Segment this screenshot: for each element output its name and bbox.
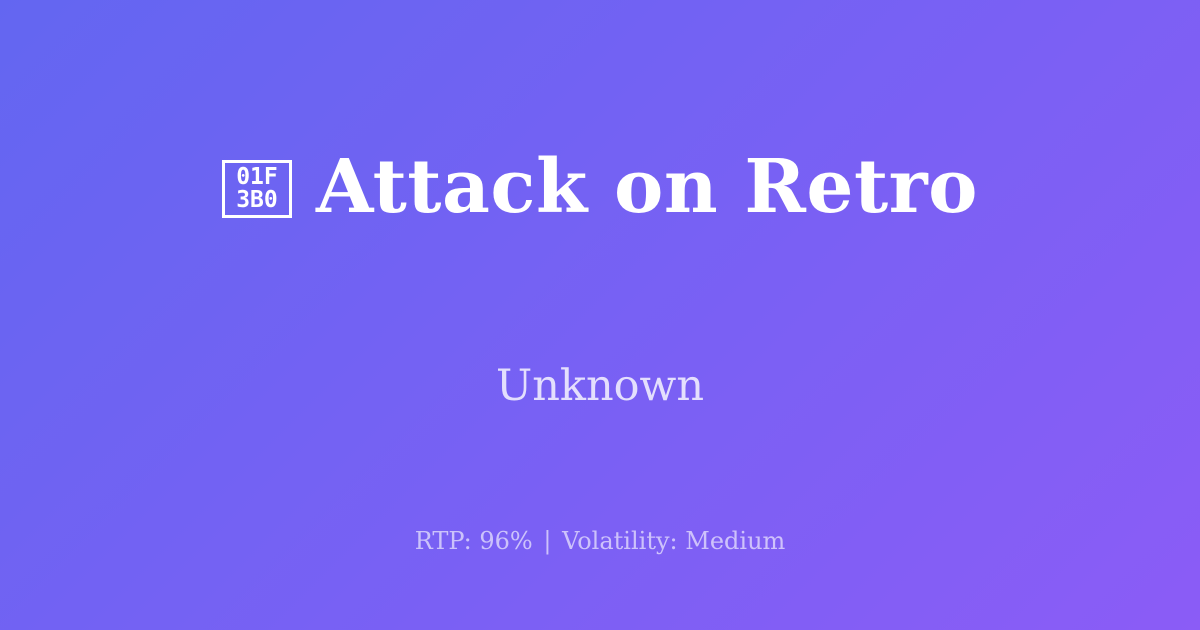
game-stats-line: RTP: 96% | Volatility: Medium [0, 524, 1200, 558]
slot-machine-icon: 01F 3B0 [222, 160, 292, 218]
stats-separator: | [540, 527, 554, 555]
og-share-card: 01F 3B0 Attack on Retro Unknown RTP: 96%… [0, 0, 1200, 630]
rtp-stat: RTP: 96% [415, 527, 533, 555]
page-title: Attack on Retro [316, 144, 978, 230]
provider-label: Unknown [0, 358, 1200, 414]
slot-machine-icon-codepoint-bottom: 3B0 [236, 189, 278, 212]
volatility-stat: Volatility: Medium [562, 527, 785, 555]
slot-machine-icon-codepoint-top: 01F [236, 166, 278, 189]
